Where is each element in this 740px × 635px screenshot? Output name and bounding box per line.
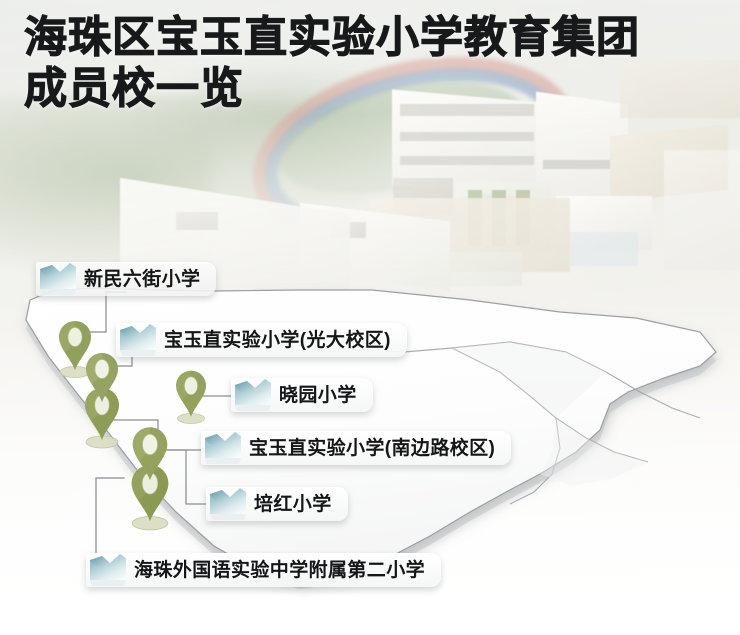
ribbon-icon (231, 378, 271, 412)
ribbon-icon (201, 431, 241, 465)
school-label-baoyuzhi-guangda[interactable]: 宝玉直实验小学(光大校区) (116, 323, 407, 357)
school-label-text: 宝玉直实验小学(光大校区) (164, 331, 391, 350)
ribbon-icon (36, 262, 76, 296)
infographic-poster: 海珠区宝玉直实验小学教育集团 成员校一览 (0, 0, 740, 635)
map-pin-glyph-double (78, 350, 126, 452)
school-label-text: 海珠外国语实验中学附属第二小学 (134, 561, 425, 580)
map-pin-icon (78, 350, 126, 452)
school-label-text: 宝玉直实验小学(南边路校区) (249, 439, 495, 458)
school-label-xiaoyuan[interactable]: 晓园小学 (231, 378, 373, 412)
map-pin-icon (170, 368, 212, 426)
school-label-haizhu-waiguoyu-fushu-di-er[interactable]: 海珠外国语实验中学附属第二小学 (86, 553, 441, 587)
map-pin-glyph-double (124, 424, 176, 534)
ribbon-icon (206, 487, 246, 521)
ribbon-icon (116, 323, 156, 357)
school-label-text: 新民六街小学 (84, 270, 200, 289)
school-label-peihong[interactable]: 培红小学 (206, 487, 348, 521)
school-label-xinmin-liujie[interactable]: 新民六街小学 (36, 262, 216, 296)
school-label-baoyuzhi-nanbianlu[interactable]: 宝玉直实验小学(南边路校区) (201, 431, 511, 465)
map-pin-icon (124, 424, 176, 534)
ribbon-icon (86, 553, 126, 587)
school-label-text: 晓园小学 (279, 386, 357, 405)
school-label-text: 培红小学 (254, 495, 332, 514)
map-pin-glyph (170, 368, 212, 426)
